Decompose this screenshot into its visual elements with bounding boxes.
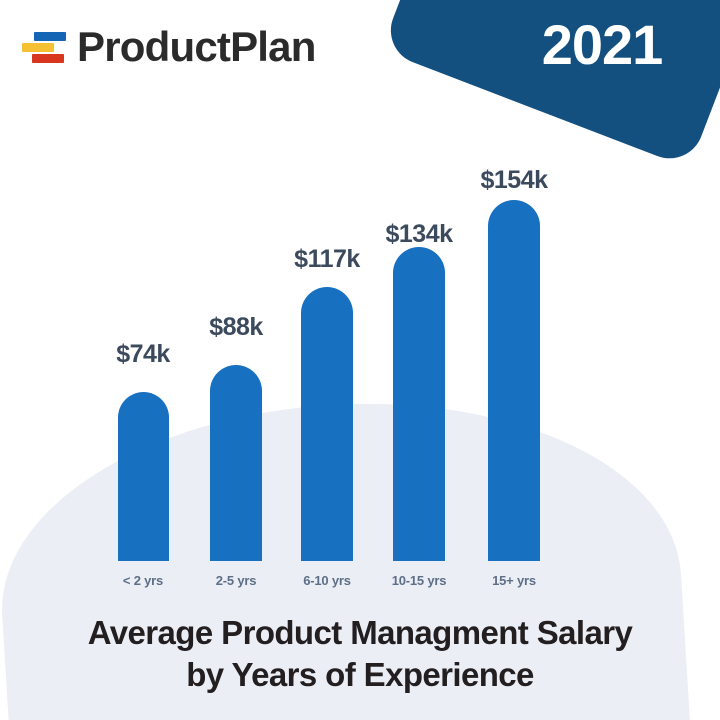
logo-bar-red: [32, 54, 64, 63]
bar-4[interactable]: [488, 200, 540, 561]
bar-value-label-1: $88k: [186, 315, 286, 340]
productplan-logo-mark-icon: [22, 27, 66, 67]
bar-category-label-4: 15+ yrs: [464, 574, 564, 587]
bar-value-label-4: $154k: [464, 168, 564, 193]
chart-title-line-1: Average Product Managment Salary: [0, 612, 720, 654]
productplan-logo-wordmark: ProductPlan: [77, 26, 316, 68]
chart-title: Average Product Managment Salary by Year…: [0, 612, 720, 695]
chart-title-line-2: by Years of Experience: [0, 654, 720, 696]
bar-value-label-3: $134k: [369, 222, 469, 247]
bar-value-label-0: $74k: [93, 342, 193, 367]
productplan-logo[interactable]: ProductPlan: [22, 26, 316, 68]
bar-3[interactable]: [393, 247, 445, 561]
bar-value-label-2: $117k: [277, 247, 377, 272]
bar-2[interactable]: [301, 287, 353, 561]
logo-bar-yellow: [22, 43, 54, 52]
bar-category-label-0: < 2 yrs: [93, 574, 193, 587]
infographic-canvas: 2021 ProductPlan $74k < 2 yrs $88k 2-5 y…: [0, 0, 720, 720]
bar-1[interactable]: [210, 365, 262, 561]
logo-bar-blue: [34, 32, 66, 41]
bar-category-label-3: 10-15 yrs: [369, 574, 469, 587]
bar-category-label-2: 6-10 yrs: [277, 574, 377, 587]
bar-category-label-1: 2-5 yrs: [186, 574, 286, 587]
bar-0[interactable]: [118, 392, 169, 561]
